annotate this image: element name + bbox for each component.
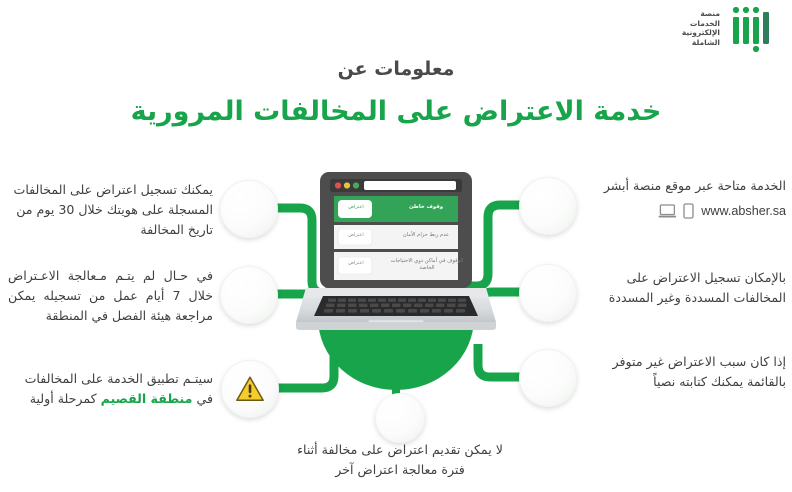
- info-text-right-3: إذا كان سبب الاعتراض غير متوفر بالقائمة …: [588, 352, 786, 392]
- bullet-left-1: [220, 180, 278, 238]
- info-text-left-3-after: كمرحلة أولية: [30, 391, 101, 406]
- warning-triangle-icon: [235, 374, 265, 404]
- device-icons: [658, 203, 694, 219]
- absher-url[interactable]: www.absher.sa: [701, 201, 786, 221]
- info-text-bottom: لا يمكن تقديم اعتراض على مخالفة أثناء فت…: [296, 440, 504, 480]
- laptop-illustration: [290, 170, 502, 342]
- bullet-right-2: [519, 264, 577, 322]
- bullet-right-1: [519, 177, 577, 235]
- bullet-right-3: [519, 349, 577, 407]
- info-text-left-3-highlight: منطقة القصيم: [101, 391, 193, 406]
- info-text-right-1: الخدمة متاحة عبر موقع منصة أبشر www.absh…: [588, 176, 786, 221]
- info-text-left-3: سيتـم تطبيق الخدمة على المخالفات في منطق…: [8, 369, 213, 409]
- bullet-bottom: [375, 393, 425, 443]
- info-text-left-1: يمكنك تسجيل اعتراض على المخالفات المسجلة…: [8, 180, 213, 240]
- bullet-left-3-warning: [221, 360, 279, 418]
- info-text-right-2: بالإمكان تسجيل الاعتراض على المخالفات ال…: [588, 268, 786, 308]
- phone-icon: [683, 203, 694, 219]
- browser-dot-yellow: [344, 182, 350, 188]
- info-text-left-2: في حـال لم يتـم مـعالجة الاعـتراض خلال 7…: [8, 266, 213, 326]
- browser-address-bar: [364, 181, 456, 190]
- infographic-canvas: منصة الخدمات الإلكترونية الشاملة معلومات…: [0, 0, 792, 492]
- browser-dot-green: [353, 182, 359, 188]
- bullet-left-2: [220, 266, 278, 324]
- browser-dot-red: [335, 182, 341, 188]
- laptop-icon: [658, 204, 677, 219]
- info-text-right-1-line: الخدمة متاحة عبر موقع منصة أبشر: [588, 176, 786, 196]
- absher-url-row: www.absher.sa: [588, 201, 786, 221]
